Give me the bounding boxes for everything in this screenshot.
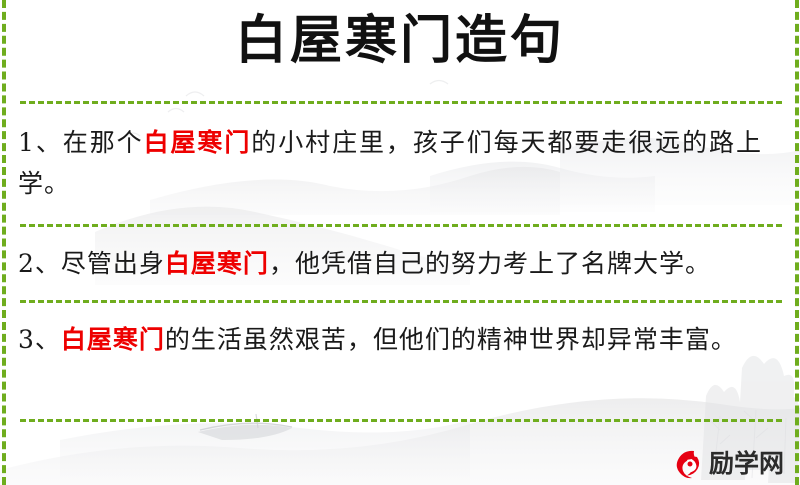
sentence-text-before-1: 在那个 <box>63 128 144 157</box>
right-dashed-border <box>795 0 799 485</box>
sentence-item-3: 3、白屋寒门的生活虽然艰苦，但他们的精神世界却异常丰富。 <box>18 319 762 360</box>
separator-after-sentence-2 <box>20 300 782 303</box>
sentence-text-before-2: 尽管出身 <box>61 249 165 278</box>
page-title-bar: 白屋寒门造句 <box>0 8 800 73</box>
separator-after-sentence-3 <box>20 419 782 422</box>
keyword-highlight-1: 白屋寒门 <box>144 128 252 157</box>
separator-after-sentence-1 <box>20 224 782 227</box>
site-logo-text: 励学网 <box>709 451 784 476</box>
site-logo[interactable]: 励学网 <box>672 447 784 479</box>
phoenix-swirl-icon <box>672 447 704 479</box>
keyword-highlight-3: 白屋寒门 <box>61 325 165 354</box>
keyword-highlight-2: 白屋寒门 <box>165 249 269 278</box>
sentence-index-1: 1、 <box>18 128 63 157</box>
sentence-example-card: 白屋寒门造句 1、在那个白屋寒门的小村庄里，孩子们每天都要走很远的路上学。 2、… <box>0 0 800 485</box>
sentence-text-after-3: 的生活虽然艰苦，但他们的精神世界却异常丰富。 <box>165 325 737 354</box>
separator-below-title <box>20 101 782 104</box>
page-title: 白屋寒门造句 <box>235 8 565 73</box>
sentence-text-after-2: ，他凭借自己的努力考上了名牌大学。 <box>269 249 711 278</box>
sentence-index-2: 2、 <box>18 249 61 278</box>
left-dashed-border <box>2 0 6 485</box>
sentence-item-2: 2、尽管出身白屋寒门，他凭借自己的努力考上了名牌大学。 <box>18 243 762 284</box>
sentence-item-1: 1、在那个白屋寒门的小村庄里，孩子们每天都要走很远的路上学。 <box>18 122 762 204</box>
sentence-index-3: 3、 <box>18 325 61 354</box>
